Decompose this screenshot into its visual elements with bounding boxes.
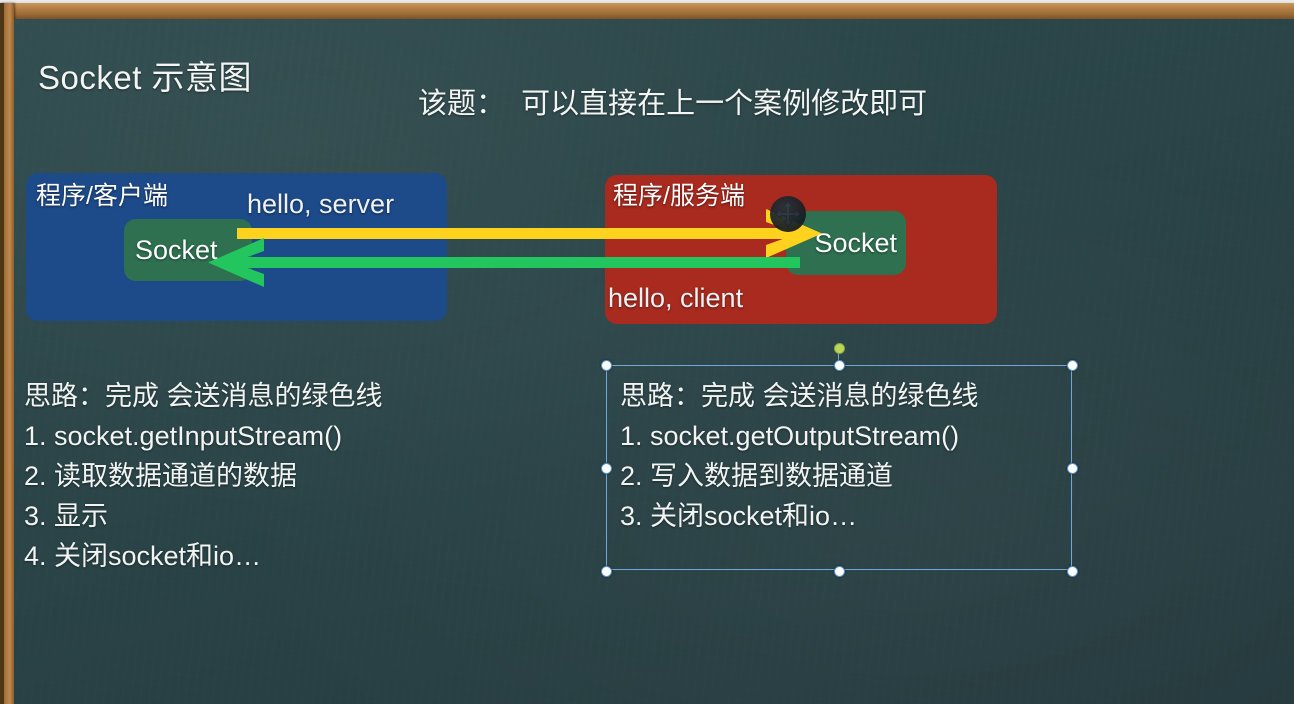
cursor-disc: [770, 196, 806, 232]
slide-canvas: Socket 示意图 该题： 可以直接在上一个案例修改即可 程序/客户端 Soc…: [0, 0, 1294, 704]
response-arrow-green: [208, 238, 800, 287]
resize-handle-bottom-center[interactable]: [834, 566, 845, 577]
notes-left-text: 思路：完成 会送消息的绿色线 1. socket.getInputStream(…: [24, 376, 383, 576]
resize-handle-top-left[interactable]: [601, 360, 612, 371]
resize-handle-top-right[interactable]: [1067, 360, 1078, 371]
resize-handle-bottom-right[interactable]: [1067, 566, 1078, 577]
selection-outline: [606, 365, 1072, 570]
resize-handle-top-center[interactable]: [834, 360, 845, 371]
rotate-handle[interactable]: [834, 343, 845, 354]
notes-right-textbox[interactable]: 思路：完成 会送消息的绿色线 1. socket.getOutputStream…: [606, 365, 1072, 570]
resize-handle-middle-right[interactable]: [1067, 463, 1078, 474]
move-cursor-icon: [770, 196, 806, 232]
resize-handle-bottom-left[interactable]: [601, 566, 612, 577]
request-arrow-yellow: [237, 209, 822, 258]
arrow-layer: [0, 0, 1294, 704]
resize-handle-middle-left[interactable]: [601, 463, 612, 474]
